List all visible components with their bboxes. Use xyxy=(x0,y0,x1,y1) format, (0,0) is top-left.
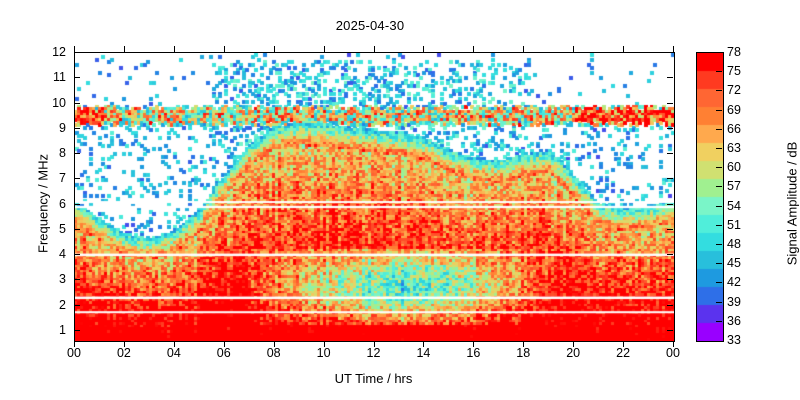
x-tick-mark xyxy=(274,341,275,347)
spectrogram-heatmap[interactable] xyxy=(75,53,674,341)
colorbar-tick-mark xyxy=(716,225,722,226)
colorbar-tick-mark xyxy=(716,186,722,187)
colorbar-tick-mark xyxy=(716,129,722,130)
x-tick-label: 00 xyxy=(653,346,693,360)
x-axis-title: UT Time / hrs xyxy=(74,371,673,386)
colorbar-tick-mark xyxy=(716,302,722,303)
x-tick-label: 20 xyxy=(553,346,593,360)
y-tick-mark xyxy=(74,77,80,78)
x-tick-mark xyxy=(174,341,175,347)
x-tick-mark xyxy=(473,46,474,52)
y-tick-mark xyxy=(667,204,673,205)
y-tick-mark xyxy=(74,279,80,280)
colorbar-title: Signal Amplitude / dB xyxy=(785,84,800,324)
y-tick-label: 1 xyxy=(40,324,66,337)
y-tick-mark xyxy=(74,153,80,154)
y-tick-mark xyxy=(667,279,673,280)
y-tick-mark xyxy=(74,178,80,179)
x-tick-mark xyxy=(374,46,375,52)
y-tick-mark xyxy=(74,330,80,331)
colorbar-tick-label: 63 xyxy=(727,142,753,155)
x-tick-mark xyxy=(174,46,175,52)
x-tick-mark xyxy=(74,46,75,52)
colorbar-tick-label: 57 xyxy=(727,180,753,193)
ionogram-spectrogram-figure: 2025-04-30 123456789101112 Frequency / M… xyxy=(0,0,800,400)
y-tick-label: 12 xyxy=(40,46,66,59)
x-tick-mark xyxy=(623,341,624,347)
x-tick-mark xyxy=(423,46,424,52)
y-tick-mark xyxy=(667,128,673,129)
x-tick-mark xyxy=(523,46,524,52)
x-tick-label: 16 xyxy=(453,346,493,360)
y-tick-mark xyxy=(74,254,80,255)
y-tick-mark xyxy=(667,229,673,230)
colorbar-tick-mark xyxy=(716,90,722,91)
page-title: 2025-04-30 xyxy=(0,18,740,33)
colorbar[interactable] xyxy=(696,52,724,342)
y-tick-mark xyxy=(667,52,673,53)
colorbar-tick-mark xyxy=(716,282,722,283)
y-tick-mark xyxy=(667,153,673,154)
y-tick-mark xyxy=(667,103,673,104)
colorbar-tick-label: 72 xyxy=(727,84,753,97)
colorbar-tick-label: 66 xyxy=(727,123,753,136)
x-tick-mark xyxy=(623,46,624,52)
x-tick-mark xyxy=(324,46,325,52)
y-tick-mark xyxy=(667,254,673,255)
y-tick-mark xyxy=(74,305,80,306)
colorbar-tick-mark xyxy=(716,321,722,322)
colorbar-tick-mark xyxy=(716,52,722,53)
x-tick-mark xyxy=(673,46,674,52)
x-tick-label: 00 xyxy=(54,346,94,360)
x-tick-label: 18 xyxy=(503,346,543,360)
x-tick-mark xyxy=(523,341,524,347)
colorbar-tick-label: 48 xyxy=(727,238,753,251)
colorbar-tick-label: 33 xyxy=(727,334,753,347)
colorbar-tick-label: 39 xyxy=(727,295,753,308)
colorbar-tick-mark xyxy=(716,110,722,111)
x-tick-mark xyxy=(324,341,325,347)
colorbar-gradient xyxy=(697,53,723,341)
colorbar-tick-label: 45 xyxy=(727,257,753,270)
y-tick-mark xyxy=(74,229,80,230)
x-tick-mark xyxy=(224,46,225,52)
y-tick-mark xyxy=(667,330,673,331)
x-tick-label: 08 xyxy=(254,346,294,360)
colorbar-tick-mark xyxy=(716,263,722,264)
colorbar-tick-mark xyxy=(716,71,722,72)
colorbar-tick-mark xyxy=(716,244,722,245)
colorbar-tick-label: 60 xyxy=(727,161,753,174)
colorbar-tick-mark xyxy=(716,167,722,168)
x-tick-label: 22 xyxy=(603,346,643,360)
y-tick-mark xyxy=(667,178,673,179)
x-tick-label: 10 xyxy=(304,346,344,360)
x-tick-mark xyxy=(274,46,275,52)
x-tick-mark xyxy=(473,341,474,347)
x-tick-mark xyxy=(74,341,75,347)
x-tick-label: 14 xyxy=(403,346,443,360)
x-tick-mark xyxy=(124,46,125,52)
colorbar-tick-label: 69 xyxy=(727,103,753,116)
x-tick-mark xyxy=(374,341,375,347)
y-tick-mark xyxy=(74,103,80,104)
x-tick-mark xyxy=(573,46,574,52)
x-tick-label: 02 xyxy=(104,346,144,360)
colorbar-tick-mark xyxy=(716,148,722,149)
x-tick-mark xyxy=(573,341,574,347)
colorbar-tick-mark xyxy=(716,206,722,207)
y-tick-mark xyxy=(74,204,80,205)
x-tick-mark xyxy=(423,341,424,347)
x-tick-label: 12 xyxy=(354,346,394,360)
y-tick-mark xyxy=(74,128,80,129)
y-axis-title: Frequency / MHz xyxy=(36,84,51,324)
x-tick-mark xyxy=(124,341,125,347)
plot-area[interactable] xyxy=(74,52,675,342)
colorbar-tick-label: 78 xyxy=(727,46,753,59)
y-tick-mark xyxy=(74,52,80,53)
x-tick-label: 04 xyxy=(154,346,194,360)
colorbar-tick-label: 42 xyxy=(727,276,753,289)
y-tick-mark xyxy=(667,305,673,306)
x-tick-label: 06 xyxy=(204,346,244,360)
colorbar-tick-label: 54 xyxy=(727,199,753,212)
x-tick-mark xyxy=(224,341,225,347)
y-tick-mark xyxy=(667,77,673,78)
colorbar-tick-label: 36 xyxy=(727,315,753,328)
y-tick-label: 11 xyxy=(40,71,66,84)
x-tick-mark xyxy=(673,341,674,347)
colorbar-tick-label: 51 xyxy=(727,219,753,232)
colorbar-tick-label: 75 xyxy=(727,65,753,78)
